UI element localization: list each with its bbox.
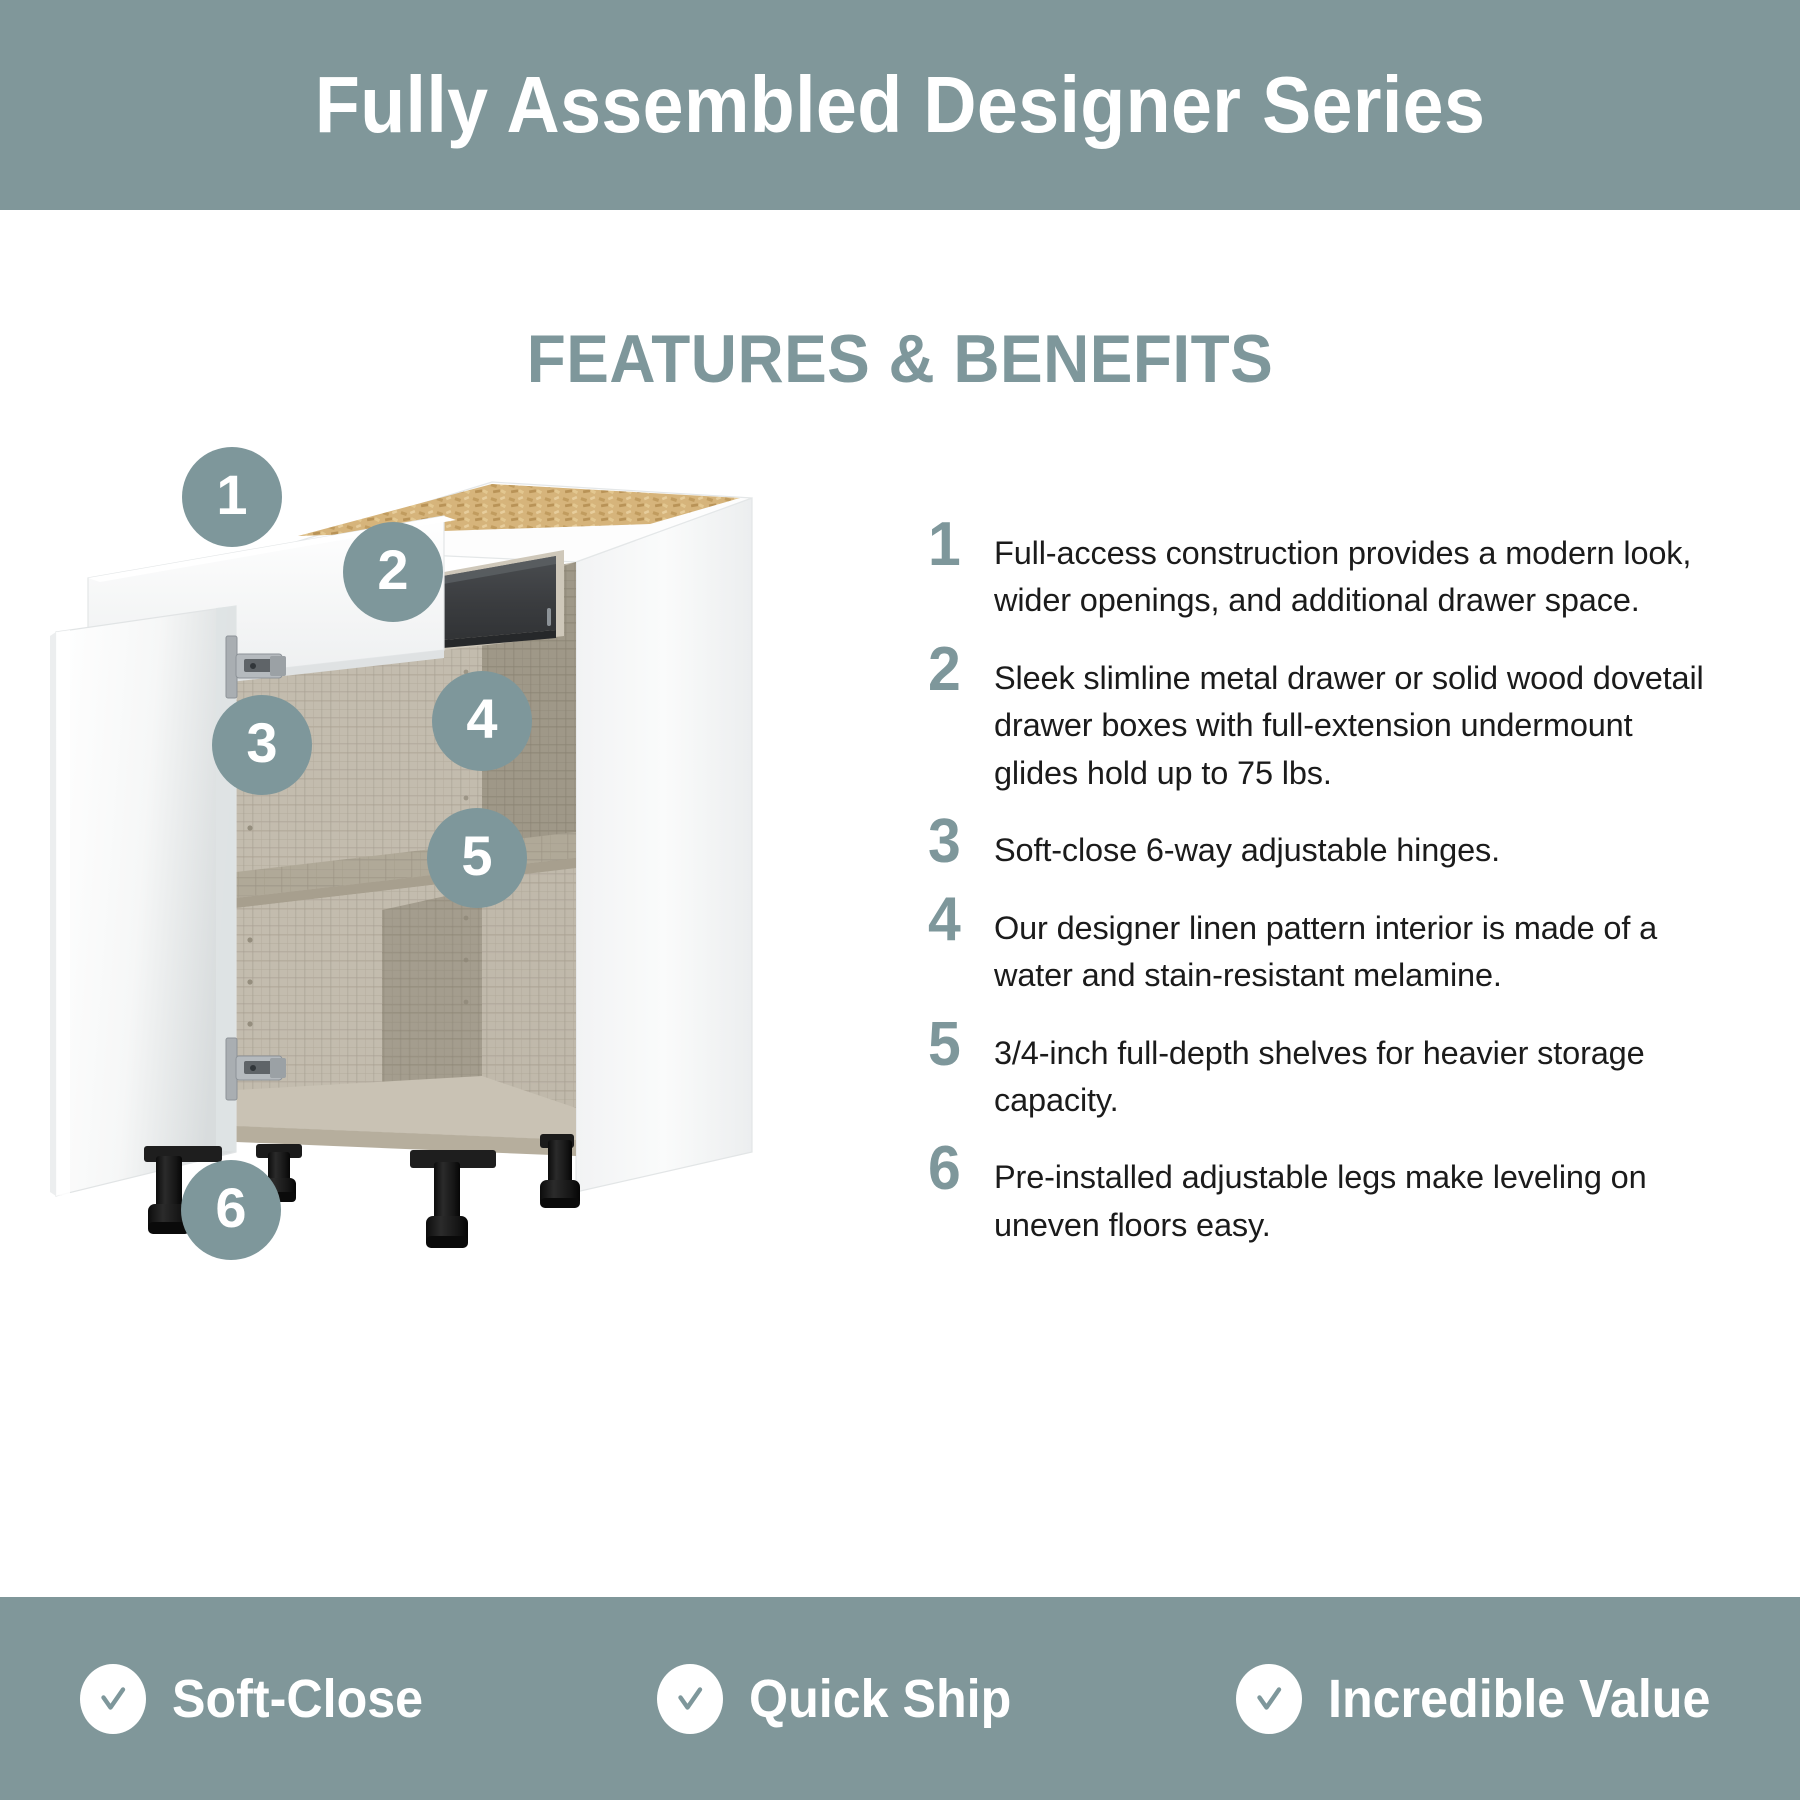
check-circle-icon <box>657 1664 723 1734</box>
feature-number-2: 2 <box>928 641 991 696</box>
callout-badge-1[interactable]: 1 <box>182 447 282 547</box>
footer-label-incredible-value: Incredible Value <box>1328 1672 1710 1726</box>
footer-item-soft-close: Soft-Close <box>80 1664 442 1734</box>
feature-item-6: 6 Pre-installed adjustable legs make lev… <box>928 1140 1718 1249</box>
adjustable-leg <box>410 1150 496 1248</box>
feature-item-3: 3 Soft-close 6-way adjustable hinges. <box>928 813 1718 874</box>
feature-text-5: 3/4-inch full-depth shelves for heavier … <box>994 1016 1718 1125</box>
feature-number-4: 4 <box>928 891 991 946</box>
feature-item-5: 5 3/4-inch full-depth shelves for heavie… <box>928 1016 1718 1125</box>
feature-number-5: 5 <box>928 1016 991 1071</box>
footer-banner: Soft-Close Quick Ship Incredible Value <box>0 1597 1800 1800</box>
feature-text-4: Our designer linen pattern interior is m… <box>994 891 1718 1000</box>
feature-text-3: Soft-close 6-way adjustable hinges. <box>994 813 1718 874</box>
feature-item-4: 4 Our designer linen pattern interior is… <box>928 891 1718 1000</box>
check-circle-icon <box>1236 1664 1302 1734</box>
feature-text-1: Full-access construction provides a mode… <box>994 516 1718 625</box>
cabinet-illustration <box>40 440 900 1520</box>
features-list: 1 Full-access construction provides a mo… <box>928 516 1718 1265</box>
feature-number-6: 6 <box>928 1140 991 1195</box>
feature-item-1: 1 Full-access construction provides a mo… <box>928 516 1718 625</box>
footer-item-quick-ship: Quick Ship <box>657 1664 1031 1734</box>
header-banner: Fully Assembled Designer Series <box>0 0 1800 210</box>
footer-label-soft-close: Soft-Close <box>172 1672 423 1726</box>
section-heading: FEATURES & BENEFITS <box>54 325 1746 393</box>
feature-number-3: 3 <box>928 813 991 868</box>
page-title: Fully Assembled Designer Series <box>315 65 1485 145</box>
feature-text-6: Pre-installed adjustable legs make level… <box>994 1140 1718 1249</box>
feature-item-2: 2 Sleek slimline metal drawer or solid w… <box>928 641 1718 797</box>
callout-badge-3[interactable]: 3 <box>212 695 312 795</box>
feature-text-2: Sleek slimline metal drawer or solid woo… <box>994 641 1718 797</box>
callout-badge-6[interactable]: 6 <box>181 1160 281 1260</box>
cabinet-svg <box>40 440 900 1520</box>
callout-badge-5[interactable]: 5 <box>427 808 527 908</box>
footer-item-incredible-value: Incredible Value <box>1236 1664 1739 1734</box>
callout-badge-2[interactable]: 2 <box>343 522 443 622</box>
footer-label-quick-ship: Quick Ship <box>749 1672 1011 1726</box>
infographic-page: Fully Assembled Designer Series FEATURES… <box>0 0 1800 1800</box>
check-circle-icon <box>80 1664 146 1734</box>
callout-badge-4[interactable]: 4 <box>432 671 532 771</box>
feature-number-1: 1 <box>928 516 991 571</box>
cabinet-door <box>50 606 236 1196</box>
